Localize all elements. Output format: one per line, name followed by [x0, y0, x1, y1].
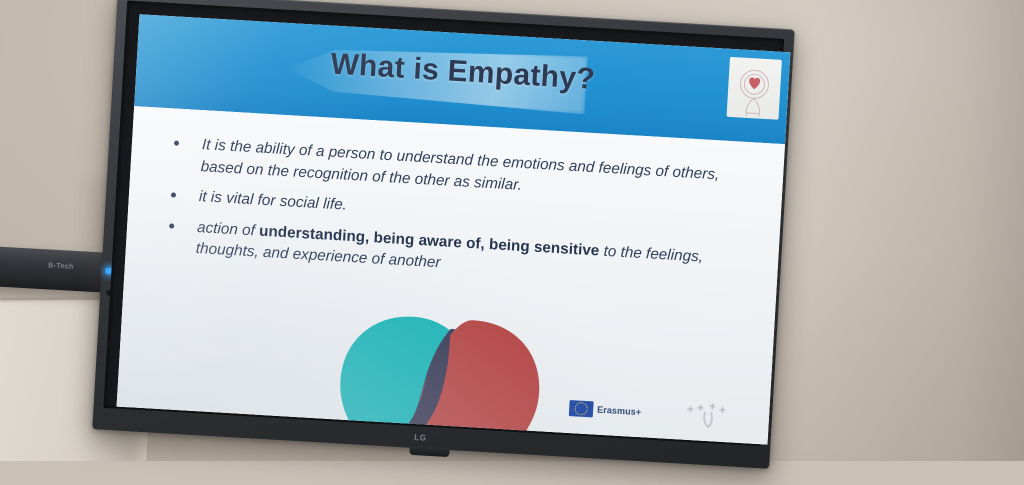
presentation-slide: What is Empathy? — [117, 14, 791, 444]
sketch-partner-logo-icon — [680, 399, 740, 432]
tv-inner-bezel: What is Empathy? — [103, 1, 784, 447]
tv-brand-logo: LG — [414, 433, 427, 443]
bullet-text-2: it is vital for social life. — [198, 188, 347, 214]
slide-footer-logos: Erasmus+ — [568, 394, 759, 435]
eu-flag-icon — [569, 400, 594, 417]
two-overlapping-head-silhouettes — [308, 303, 578, 444]
erasmus-plus-logo: Erasmus+ — [569, 400, 642, 420]
television: What is Empathy? — [91, 0, 816, 485]
tv-screen[interactable]: What is Empathy? — [117, 14, 791, 444]
mount-bracket-label: B-Tech — [48, 262, 74, 270]
slide-body: It is the ability of a person to underst… — [117, 106, 785, 445]
slide-bullet-list: It is the ability of a person to underst… — [151, 132, 766, 302]
heart-lightbulb-icon — [727, 57, 782, 120]
bullet-text-1: It is the ability of a person to underst… — [200, 136, 720, 193]
bullet-text-3a: action of — [197, 219, 260, 240]
tv-stand-nub — [409, 446, 449, 457]
wall-shadow-right — [814, 0, 1024, 461]
eu-stars-icon — [574, 402, 588, 416]
tv-frame: What is Empathy? — [92, 0, 795, 469]
erasmus-label: Erasmus+ — [597, 405, 642, 418]
